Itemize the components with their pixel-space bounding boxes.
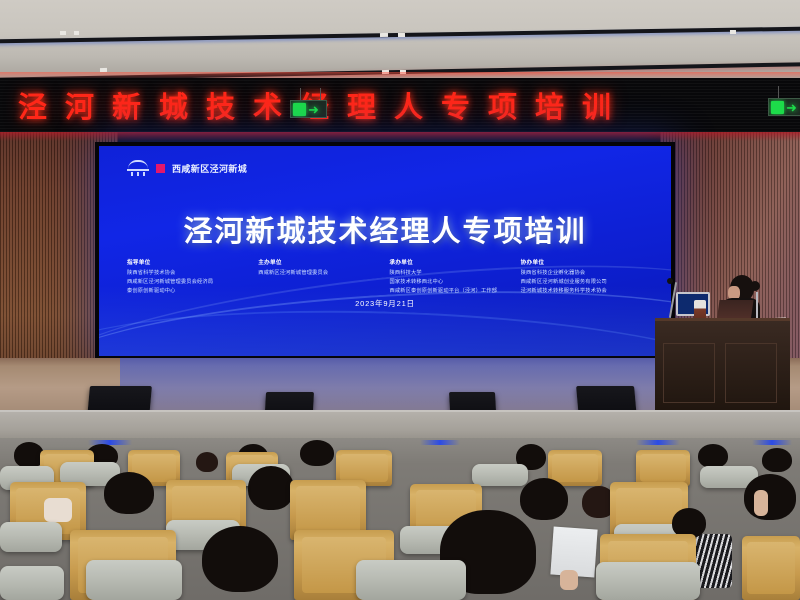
presenter-hair-bun [750,281,760,291]
org-column-coorganizer: 协办单位 陕西省科技企业孵化器协会 西咸新区泾河新城创业服务有限公司 泾河新城技… [521,258,645,296]
exit-sign-center: ➜ [290,100,327,118]
seat-back[interactable] [636,450,690,486]
ceiling [0,0,800,78]
led-banner-underglow [0,132,800,141]
audience-area [0,438,800,600]
slide-organizations: 指导单位 陕西省科学技术协会 西咸新区泾河新城管理委员会经济局 秦创原创新驱动中… [127,258,645,296]
back-screen-glow-3 [636,440,680,445]
podium-desk [655,318,790,410]
exit-sign-right: ➜ [768,98,800,116]
slide-date: 2023年9月21日 [99,298,671,309]
org-column-guidance: 指导单位 陕西省科学技术协会 西咸新区泾河新城管理委员会经济局 秦创原创新驱动中… [127,258,251,296]
bridge-logo-icon [127,160,149,176]
audience-head [520,478,568,520]
slide: 西咸新区泾河新城 泾河新城技术经理人专项培训 指导单位 陕西省科学技术协会 西咸… [99,146,671,356]
org-heading: 承办单位 [389,258,513,266]
org-heading: 协办单位 [521,258,645,266]
audience-head [762,448,792,472]
running-man-icon [771,101,784,114]
back-screen-glow-2 [420,440,460,445]
podium-panel-left [663,343,715,403]
running-man-icon [293,103,306,116]
org-heading: 指导单位 [127,258,251,266]
microphone-icon [667,278,673,284]
slide-logo-text: 西咸新区泾河新城 [172,162,247,175]
audience-hand [560,570,578,590]
org-item: 西咸新区秦创原创新驱动平台（泾河）工作部 [389,287,513,296]
ceiling-light-e [730,30,736,34]
org-item: 陕西省科技企业孵化器协会 [521,269,645,278]
org-item: 国家技术转移西北中心 [389,278,513,287]
org-item: 秦创原创新驱动中心 [127,287,251,296]
led-banner: 泾河新城技术经理人专项培训 [0,78,800,132]
seat-cushion[interactable] [0,566,64,600]
audience-head [744,474,796,520]
org-heading: 主办单位 [258,258,382,266]
org-column-host: 主办单位 西咸新区泾河新城管理委员会 [258,258,382,296]
audience-head [248,466,294,510]
seat-back[interactable] [742,536,800,600]
ceiling-light-c [380,33,388,37]
audience-head [104,472,154,514]
auditorium-scene: 泾河新城技术经理人专项培训 ➜ ➜ 西咸新区泾河 [0,0,800,600]
org-item: 陕西省科学技术协会 [127,269,251,278]
seat-cushion[interactable] [472,464,528,486]
ceiling-light-b [74,31,79,35]
audience-head [196,452,218,472]
audience-head [202,526,278,592]
org-column-organizer: 承办单位 陕西科技大学 国家技术转移西北中心 西咸新区秦创原创新驱动平台（泾河）… [389,258,513,296]
podium-rail [756,292,758,320]
slide-title: 泾河新城技术经理人专项培训 [99,208,671,250]
arrow-right-icon: ➜ [786,101,797,114]
seat-cushion[interactable] [356,560,466,600]
org-item: 西咸新区泾河新城管理委员会 [258,269,382,278]
audience-head [300,440,334,466]
org-item: 陕西科技大学 [389,269,513,278]
logo-square-mark [156,164,165,173]
led-presentation-screen: 西咸新区泾河新城 泾河新城技术经理人专项培训 指导单位 陕西省科学技术协会 西咸… [95,142,675,360]
seat-cushion[interactable] [596,562,700,600]
ceiling-light-d [398,33,405,37]
slide-logo: 西咸新区泾河新城 [127,160,247,176]
back-screen-glow-4 [752,440,792,445]
arrow-right-icon: ➜ [308,103,319,116]
org-item: 西咸新区泾河新城创业服务有限公司 [521,278,645,287]
audience-head [698,444,728,468]
audience-arm [44,498,72,522]
org-item: 西咸新区泾河新城管理委员会经济局 [127,278,251,287]
audience-ear [754,490,768,516]
seat-cushion[interactable] [0,522,62,552]
seat-cushion[interactable] [86,560,182,600]
ceiling-light-a [60,31,66,35]
podium-panel-right [725,343,777,403]
org-item: 泾河新城技术转移服务科学技术协会 [521,287,645,296]
